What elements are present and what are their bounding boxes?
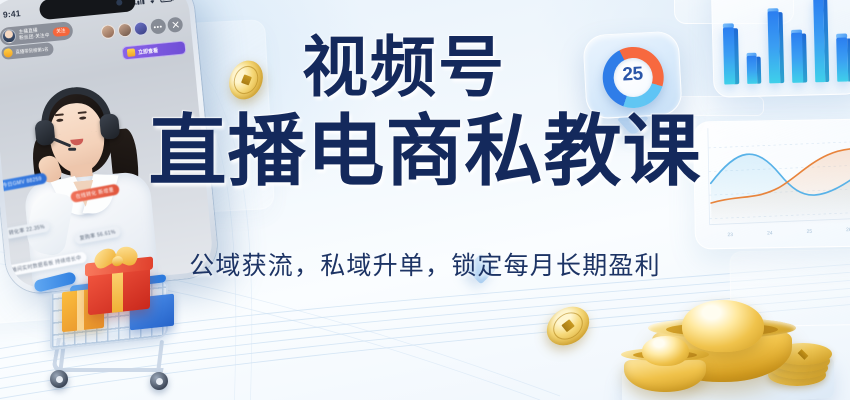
battery-icon bbox=[160, 0, 173, 2]
gold-coin-icon bbox=[543, 307, 594, 346]
close-icon[interactable] bbox=[167, 17, 183, 33]
title-block: 视频号 直播电商私教课 bbox=[0, 34, 850, 190]
more-dots-icon[interactable] bbox=[150, 18, 166, 34]
svg-text:23: 23 bbox=[727, 232, 733, 238]
page-title-line-1: 视频号 bbox=[0, 34, 850, 100]
cart-wheel bbox=[50, 370, 68, 388]
shopping-cart-gifts-icon bbox=[26, 272, 202, 394]
promo-banner: 23 24 25 26 25 9:41 bbox=[0, 0, 850, 400]
ingot-small bbox=[624, 348, 706, 392]
signal-bars-icon bbox=[135, 0, 145, 5]
page-title-line-2: 直播电商私教课 bbox=[0, 112, 850, 190]
gold-ingot-icon bbox=[628, 282, 838, 398]
svg-text:26: 26 bbox=[846, 227, 850, 233]
wifi-icon bbox=[147, 0, 158, 4]
status-bar-icons bbox=[135, 0, 173, 6]
status-bar-time: 9:41 bbox=[2, 8, 21, 20]
svg-text:24: 24 bbox=[767, 230, 773, 236]
svg-text:25: 25 bbox=[807, 229, 813, 235]
cart-wheel bbox=[150, 372, 168, 390]
page-subtitle: 公域获流，私域升单，锁定每月长期盈利 bbox=[0, 246, 850, 282]
